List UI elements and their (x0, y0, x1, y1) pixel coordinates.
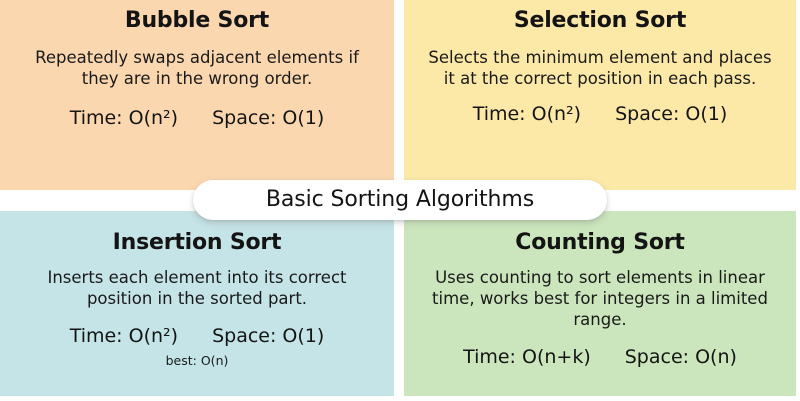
card-description-insertion-sort: Inserts each element into its correct po… (17, 267, 377, 309)
card-insertion-sort: Insertion Sort Inserts each element into… (0, 211, 394, 396)
time-complexity-counting-sort: Time: O(n+k) (463, 346, 591, 368)
card-bubble-sort: Bubble Sort Repeatedly swaps adjacent el… (0, 0, 394, 190)
card-title-counting-sort: Counting Sort (515, 230, 684, 256)
card-description-selection-sort: Selects the minimum element and places i… (428, 47, 773, 89)
complexity-row-counting-sort: Time: O(n+k) Space: O(n) (463, 346, 737, 368)
center-badge-label: Basic Sorting Algorithms (266, 189, 534, 211)
complexity-row-insertion-sort: Time: O(n²) Space: O(1) (70, 325, 325, 347)
space-complexity-insertion-sort: Space: O(1) (212, 325, 324, 347)
card-title-selection-sort: Selection Sort (514, 8, 686, 34)
sorting-algorithms-infographic: Bubble Sort Repeatedly swaps adjacent el… (0, 0, 800, 401)
complexity-row-selection-sort: Time: O(n²) Space: O(1) (473, 103, 728, 125)
best-case-note-insertion-sort: best: O(n) (166, 353, 229, 368)
space-complexity-counting-sort: Space: O(n) (625, 346, 737, 368)
complexity-row-bubble-sort: Time: O(n²) Space: O(1) (70, 107, 325, 129)
card-description-bubble-sort: Repeatedly swaps adjacent elements if th… (32, 47, 362, 89)
time-complexity-insertion-sort: Time: O(n²) (70, 325, 178, 347)
time-complexity-selection-sort: Time: O(n²) (473, 103, 581, 125)
time-complexity-bubble-sort: Time: O(n²) (70, 107, 178, 129)
card-title-insertion-sort: Insertion Sort (113, 230, 282, 256)
card-description-counting-sort: Uses counting to sort elements in linear… (423, 267, 778, 330)
space-complexity-selection-sort: Space: O(1) (615, 103, 727, 125)
card-title-bubble-sort: Bubble Sort (125, 8, 269, 34)
center-badge: Basic Sorting Algorithms (193, 180, 607, 220)
card-counting-sort: Counting Sort Uses counting to sort elem… (404, 211, 796, 396)
card-selection-sort: Selection Sort Selects the minimum eleme… (404, 0, 796, 190)
space-complexity-bubble-sort: Space: O(1) (212, 107, 324, 129)
